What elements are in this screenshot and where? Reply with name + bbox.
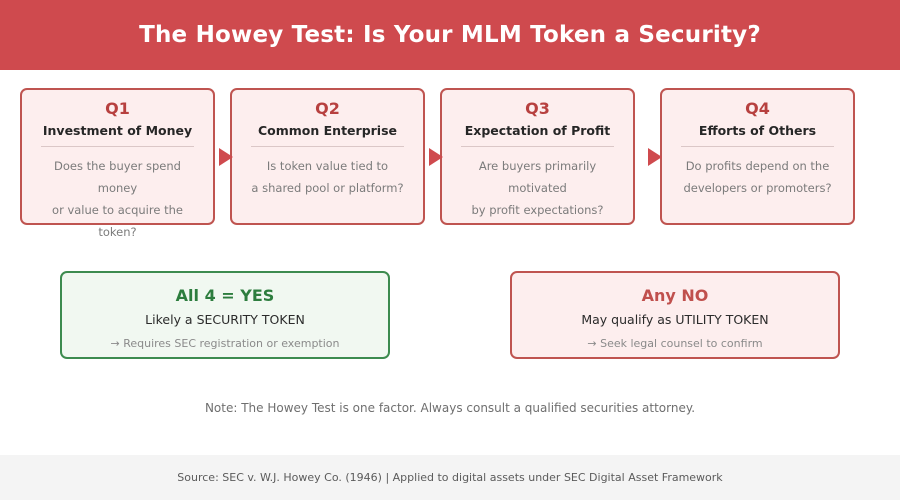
criterion-question-q3-line2: by profit expectations? — [453, 199, 622, 221]
page-header: The Howey Test: Is Your MLM Token a Secu… — [0, 0, 900, 70]
criterion-divider-q2 — [251, 146, 403, 147]
outcome-subtitle-all-yes: Likely a SECURITY TOKEN — [62, 307, 388, 333]
criterion-question-q3: Are buyers primarily motivated by profit… — [453, 155, 622, 221]
criterion-question-q4: Do profits depend on the developers or p… — [673, 155, 842, 199]
disclaimer-note: Note: The Howey Test is one factor. Alwa… — [0, 401, 900, 415]
outcome-note-all-yes: → Requires SEC registration or exemption — [62, 333, 388, 355]
page-title: The Howey Test: Is Your MLM Token a Secu… — [139, 22, 761, 48]
criterion-card-q1[interactable]: Q1 Investment of Money Does the buyer sp… — [20, 88, 215, 225]
outcome-heading-all-yes: All 4 = YES — [62, 285, 388, 307]
criterion-question-q2-line2: a shared pool or platform? — [243, 177, 412, 199]
outcome-subtitle-any-no: May qualify as UTILITY TOKEN — [512, 307, 838, 333]
criterion-divider-q4 — [681, 146, 833, 147]
criterion-question-q1: Does the buyer spend money or value to a… — [33, 155, 202, 243]
criterion-question-q2-line1: Is token value tied to — [243, 155, 412, 177]
criterion-question-q4-line1: Do profits depend on the — [673, 155, 842, 177]
criterion-title-q2: Common Enterprise — [243, 123, 412, 139]
criterion-number-q2: Q2 — [243, 99, 412, 119]
criterion-card-q3[interactable]: Q3 Expectation of Profit Are buyers prim… — [440, 88, 635, 225]
criterion-question-q1-line1: Does the buyer spend money — [33, 155, 202, 199]
arrow-right-icon-q1-to-q2 — [219, 148, 233, 166]
outcome-note-any-no: → Seek legal counsel to confirm — [512, 333, 838, 355]
arrow-right-icon-q3-to-q4 — [648, 148, 662, 166]
criterion-question-q4-line2: developers or promoters? — [673, 177, 842, 199]
page-footer: Source: SEC v. W.J. Howey Co. (1946) | A… — [0, 455, 900, 500]
arrow-right-icon-q2-to-q3 — [429, 148, 443, 166]
outcome-heading-any-no: Any NO — [512, 285, 838, 307]
criterion-question-q1-line2: or value to acquire the token? — [33, 199, 202, 243]
criterion-card-q4[interactable]: Q4 Efforts of Others Do profits depend o… — [660, 88, 855, 225]
criterion-title-q3: Expectation of Profit — [453, 123, 622, 139]
outcome-box-any-no[interactable]: Any NO May qualify as UTILITY TOKEN → Se… — [510, 271, 840, 359]
criterion-divider-q1 — [41, 146, 193, 147]
outcome-box-all-yes[interactable]: All 4 = YES Likely a SECURITY TOKEN → Re… — [60, 271, 390, 359]
criterion-number-q3: Q3 — [453, 99, 622, 119]
criterion-title-q1: Investment of Money — [33, 123, 202, 139]
criterion-divider-q3 — [461, 146, 613, 147]
criterion-title-q4: Efforts of Others — [673, 123, 842, 139]
footer-source-text: Source: SEC v. W.J. Howey Co. (1946) | A… — [177, 471, 722, 484]
criterion-card-q2[interactable]: Q2 Common Enterprise Is token value tied… — [230, 88, 425, 225]
criterion-number-q4: Q4 — [673, 99, 842, 119]
criterion-question-q2: Is token value tied to a shared pool or … — [243, 155, 412, 199]
criterion-question-q3-line1: Are buyers primarily motivated — [453, 155, 622, 199]
criterion-number-q1: Q1 — [33, 99, 202, 119]
